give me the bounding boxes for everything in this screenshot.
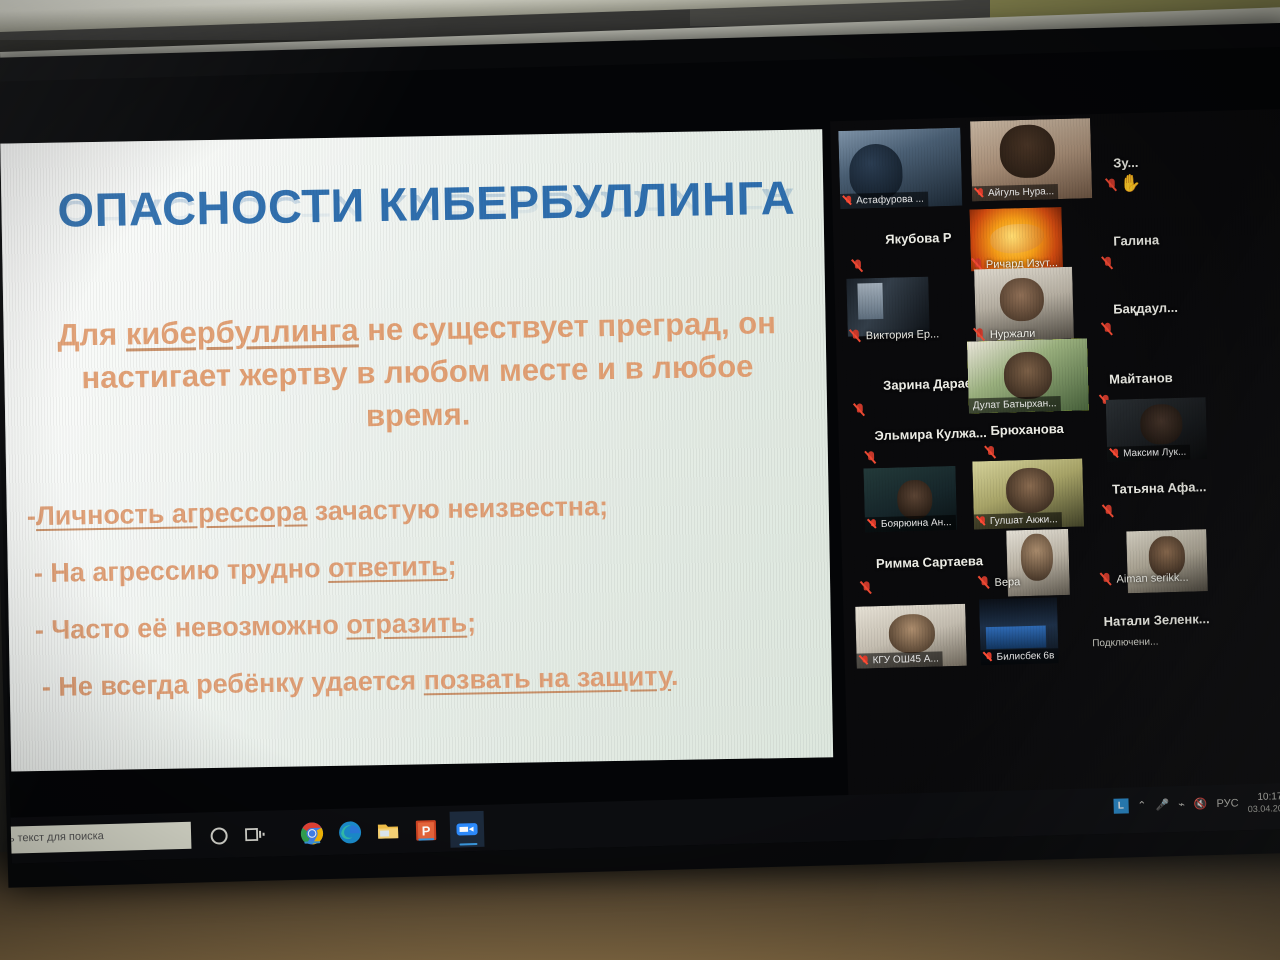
edge-icon[interactable]	[338, 820, 363, 845]
participant-name: Максим Лук...	[1123, 447, 1186, 460]
mic-off-icon	[860, 580, 873, 595]
participant-name: Дулат Батырхан...	[973, 398, 1057, 411]
mic-off-icon	[844, 196, 853, 207]
microphone-icon[interactable]: 🎤	[1155, 799, 1169, 812]
cortana-icon[interactable]	[207, 824, 232, 849]
monitor-screen: ОПАСНОСТИ КИБЕРБУЛЛИНГА ОПАСНОСТИ КИБЕРБ…	[0, 47, 1280, 864]
participant-name: Айгуль Нура...	[988, 186, 1054, 199]
photo-scene: ОПАСНОСТИ КИБЕРБУЛЛИНГА ОПАСНОСТИ КИБЕРБ…	[0, 0, 1280, 960]
participant-name: Натали Зеленк...	[1103, 611, 1209, 629]
participant-tile-active-speaker[interactable]: Дулат Батырхан...	[967, 338, 1089, 413]
mic-off-icon	[985, 445, 998, 460]
network-icon[interactable]: ⌁	[1178, 798, 1185, 811]
powerpoint-icon[interactable]: P	[414, 818, 439, 843]
participant-name: Галина	[1113, 232, 1159, 248]
task-view-icon[interactable]	[243, 823, 268, 848]
mic-off-icon	[1100, 572, 1113, 587]
participant-connection-status: Подключени...	[1092, 637, 1158, 650]
participant-name: Брюханова	[990, 421, 1064, 438]
mic-off-icon	[852, 258, 865, 273]
powerpoint-running-indicator	[418, 838, 434, 840]
participant-name: Римма Сартаева	[876, 553, 983, 571]
slide-bullet-list: -Личность агрессора зачастую неизвестна;…	[27, 489, 821, 731]
clock-time: 10:17	[1247, 791, 1280, 804]
participant-name: Эльмира Кулжа...	[874, 425, 987, 443]
slide-bullet-3: - Часто её невозможно отразить;	[29, 603, 819, 644]
participant-name: Астафурова ...	[856, 194, 924, 207]
clock[interactable]: 10:17 03.04.2021	[1247, 791, 1280, 814]
mic-off-icon	[860, 655, 869, 666]
participant-tile[interactable]: Айгуль Нура...	[970, 118, 1092, 201]
mic-off-icon	[1102, 504, 1115, 519]
language-indicator[interactable]: РУС	[1216, 797, 1238, 810]
mic-off-icon	[978, 516, 987, 527]
search-placeholder-text: есь текст для поиска	[0, 830, 104, 845]
mic-off-icon	[850, 328, 863, 343]
show-hidden-icons-chevron-icon[interactable]: ⌃	[1137, 799, 1147, 812]
mic-off-icon	[1102, 322, 1115, 337]
mic-off-icon	[1102, 256, 1115, 271]
shared-powerpoint-slide[interactable]: ОПАСНОСТИ КИБЕРБУЛЛИНГА ОПАСНОСТИ КИБЕРБ…	[0, 129, 833, 771]
zoom-participant-gallery[interactable]: Астафурова ... Айгуль Нура... Зу... ✋ Як…	[830, 109, 1280, 821]
participant-name-bar: Гулшат Акжи...	[974, 512, 1062, 529]
bullet-3-underlined: отразить	[346, 608, 467, 640]
participant-name-bar: Астафурова ...	[840, 192, 928, 209]
participant-tile[interactable]: Билисбек 6в	[979, 597, 1059, 665]
mic-off-icon	[978, 575, 991, 590]
mic-off-icon	[976, 188, 985, 199]
bullet-3-prefix: - Часто её невозможно	[35, 610, 347, 645]
bullet-3-rest: ;	[467, 607, 477, 637]
mic-off-icon	[865, 450, 878, 465]
participant-tile[interactable]: Гулшат Акжи...	[972, 458, 1084, 529]
participant-name: Боярюина Ан...	[881, 517, 952, 530]
chrome-running-indicator	[304, 841, 320, 843]
participant-name: Татьяна Афа...	[1112, 479, 1207, 497]
bullet-1-rest: зачастую неизвестна;	[307, 491, 608, 526]
mic-off-icon	[869, 519, 878, 530]
participant-name-bar: Боярюина Ан...	[865, 515, 956, 532]
participant-name: Вера	[994, 576, 1020, 589]
participant-name: Зу...	[1113, 155, 1138, 171]
zoom-running-indicator	[459, 843, 477, 845]
zoom-icon[interactable]	[450, 811, 485, 848]
participant-tile[interactable]: Астафурова ...	[838, 128, 962, 209]
participant-name-bar: Максим Лук...	[1107, 445, 1191, 462]
svg-text:P: P	[422, 823, 431, 838]
participant-name: Майтанов	[1109, 370, 1173, 387]
participant-tile[interactable]: Максим Лук...	[1106, 397, 1208, 462]
participant-name: Виктория Ер...	[866, 328, 940, 342]
bullet-4-rest: .	[671, 661, 679, 691]
slide-intro-a: Для	[57, 316, 126, 352]
participant-name: Aiman serikk...	[1116, 572, 1188, 586]
mic-off-icon	[984, 652, 993, 663]
bullet-4-underlined: позвать на защиту	[423, 661, 671, 695]
participant-name-bar: Айгуль Нура...	[972, 184, 1058, 201]
taskbar-search-input[interactable]: есь текст для поиска	[0, 822, 191, 854]
file-explorer-icon[interactable]	[376, 819, 401, 844]
mic-off-icon	[1106, 177, 1119, 192]
mic-off-icon	[1111, 448, 1120, 459]
participant-name: КГУ ОШ45 А...	[872, 653, 939, 666]
windows-taskbar[interactable]: есь текст для поиска	[11, 783, 1280, 864]
monitor: ОПАСНОСТИ КИБЕРБУЛЛИНГА ОПАСНОСТИ КИБЕРБ…	[0, 23, 1280, 888]
slide-bullet-2: - На агрессию трудно ответить;	[28, 546, 818, 587]
bullet-4-prefix: - Не всегда ребёнку удается	[42, 665, 424, 702]
system-tray[interactable]: L ⌃ 🎤 ⌁ 🔇 РУС 10:17 03.04.2021	[1113, 791, 1280, 818]
bullet-2-rest: ;	[447, 551, 457, 581]
mic-off-icon	[854, 402, 867, 417]
clock-date: 03.04.2021	[1248, 802, 1280, 814]
participant-name: Билисбек 6в	[996, 650, 1054, 663]
volume-muted-icon[interactable]: 🔇	[1194, 798, 1208, 811]
slide-bullet-1: -Личность агрессора зачастую неизвестна;	[27, 489, 817, 530]
raised-hand-icon: ✋	[1120, 175, 1142, 193]
participant-name: Гулшат Акжи...	[990, 514, 1058, 527]
participant-name: Якубова Р	[885, 230, 952, 247]
slide-intro-underlined: кибербуллинга	[125, 312, 358, 351]
participant-name-bar: КГУ ОШ45 А...	[856, 651, 943, 668]
bullet-2-underlined: ответить	[328, 551, 448, 583]
chrome-icon[interactable]	[300, 821, 325, 846]
participant-name-bar: Дулат Батырхан...	[969, 396, 1061, 413]
participant-name: Бақдаул...	[1113, 300, 1178, 317]
slide-title: ОПАСНОСТИ КИБЕРБУЛЛИНГА	[57, 170, 798, 238]
participant-tile[interactable]: КГУ ОШ45 А...	[855, 604, 967, 669]
participant-name-bar: Билисбек 6в	[980, 648, 1058, 665]
slide-intro-paragraph: Для кибербуллинга не существует преград,…	[25, 302, 809, 444]
bullet-1-underlined: Личность агрессора	[36, 496, 308, 531]
participant-tile[interactable]: Боярюина Ан...	[863, 466, 957, 532]
keyboard-layout-badge[interactable]: L	[1113, 799, 1128, 814]
bullet-2-prefix: - На агрессию трудно	[34, 553, 329, 588]
slide-bullet-4: - Не всегда ребёнку удается позвать на з…	[30, 660, 820, 701]
